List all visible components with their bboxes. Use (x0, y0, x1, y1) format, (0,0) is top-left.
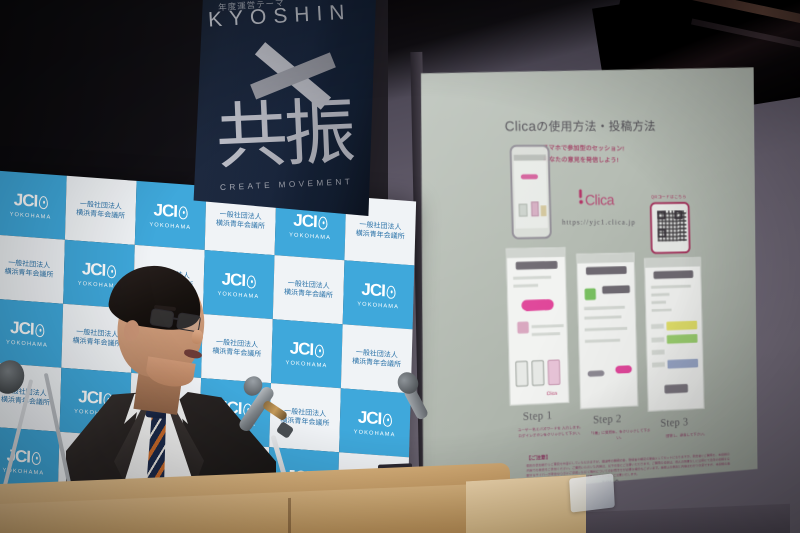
x-cross-mark-icon (237, 32, 346, 120)
location-pin-icon (315, 344, 324, 358)
banner-title-en: KYOSHIN (207, 0, 373, 33)
backdrop-jci-text: JCI (10, 318, 34, 340)
banner-title-jp: 共振 (214, 95, 357, 181)
clica-url: https://yjc1.clica.jp (562, 217, 636, 226)
backdrop-city: YOKOHAMA (286, 360, 328, 369)
qr-code-icon (650, 202, 691, 254)
microphone-clip (276, 421, 294, 439)
step-1-screenshot: Clica (506, 247, 570, 406)
microphone-gold-band (262, 399, 289, 421)
backdrop-org-name: 一般社団法人横浜青年会議所 (356, 220, 405, 242)
slide-title: Clicaの使用方法・投稿方法 (504, 116, 725, 135)
step-1-caption: ユーザー名とパスワードを 入力します。 ログインボタンをクリックして下さい。 (516, 424, 584, 440)
backdrop-org-name: 一般社団法人横浜青年会議所 (352, 348, 401, 370)
backdrop-jci-text: JCI (13, 190, 37, 212)
backdrop-tile-org: 一般社団法人横浜青年会議所 (273, 255, 345, 324)
backdrop-jci-text: JCI (358, 408, 382, 430)
step-2-label: Step 2 (593, 413, 622, 426)
banner-tagline: CREATE MOVEMENT (220, 177, 360, 192)
backdrop-org-name: 一般社団法人横浜青年会議所 (76, 199, 125, 221)
backdrop-city: YOKOHAMA (10, 212, 52, 221)
clica-exclamation-icon (577, 189, 585, 205)
projection-screen: Clicaの使用方法・投稿方法 スマホで参加型のセッション! あなたの意見を発信… (419, 58, 758, 498)
location-pin-icon (35, 323, 44, 337)
backdrop-city: YOKOHAMA (6, 340, 48, 349)
backdrop-tile-jci: JCIYOKOHAMA (271, 319, 343, 388)
step-2-screenshot (576, 252, 638, 409)
backdrop-city: YOKOHAMA (149, 222, 191, 231)
location-pin-icon (179, 206, 188, 220)
microphone-second (398, 372, 442, 432)
slide-subtitle-line2: あなたの意見を発信しよう! (543, 154, 663, 167)
step-3-caption: 回答し、送信して下さい。 (654, 431, 719, 441)
location-pin-icon (387, 285, 396, 299)
clica-brand-logo: Clica (585, 192, 614, 209)
slide-title-en: Clica (504, 118, 536, 134)
step-3-screenshot (644, 257, 705, 412)
backdrop-city: YOKOHAMA (354, 429, 396, 438)
backdrop-org-name: 一般社団法人横浜青年会議所 (284, 278, 333, 300)
step-1-label: Step 1 (523, 410, 553, 423)
lectern-seam (288, 498, 291, 533)
slide-title-jp: の使用方法・投稿方法 (536, 120, 656, 134)
backdrop-org-name: 一般社団法人横浜青年会議所 (216, 209, 265, 231)
backdrop-tile-org: 一般社団法人横浜青年会議所 (65, 176, 137, 245)
backdrop-tile-jci: JCIYOKOHAMA (0, 171, 67, 240)
step-2-caption: 「1番」に質問を、をクリックして下さい。 (586, 427, 652, 443)
presentation-photo-scene: Clicaの使用方法・投稿方法 スマホで参加型のセッション! あなたの意見を発信… (0, 0, 800, 533)
lectern-right-panel (466, 475, 586, 533)
backdrop-jci-text: JCI (153, 200, 177, 222)
location-pin-icon (39, 195, 48, 209)
banner-top-line: 年度運営テーマ (218, 0, 368, 13)
slide-subtitle: スマホで参加型のセッション! あなたの意見を発信しよう! (543, 143, 663, 168)
step-3-label: Step 3 (660, 417, 688, 430)
backdrop-org-name: 一般社団法人横浜青年会議所 (4, 258, 53, 280)
backdrop-city: YOKOHAMA (289, 232, 331, 241)
location-pin-icon (383, 413, 392, 427)
kyoshin-theme-banner: 年度運営テーマ KYOSHIN 共振 CREATE MOVEMENT (186, 0, 376, 216)
backdrop-tile-jci: JCIYOKOHAMA (0, 299, 63, 368)
wooden-lectern (0, 470, 530, 533)
backdrop-city: YOKOHAMA (357, 301, 399, 310)
backdrop-jci-text: JCI (289, 338, 313, 360)
banner-theme-label: 年度運営テーマ (218, 0, 285, 12)
phone-mockup-hero (510, 145, 552, 240)
backdrop-jci-text: JCI (293, 210, 317, 232)
qr-caption: QRコードはこちら (651, 194, 686, 200)
slide-content: Clicaの使用方法・投稿方法 スマホで参加型のセッション! あなたの意見を発信… (408, 62, 768, 511)
glass-on-lectern (569, 473, 615, 512)
location-pin-icon (319, 216, 328, 230)
backdrop-tile-org: 一般社団法人横浜青年会議所 (0, 235, 65, 304)
backdrop-jci-text: JCI (361, 280, 385, 302)
backdrop-tile-jci: JCIYOKOHAMA (343, 260, 415, 329)
